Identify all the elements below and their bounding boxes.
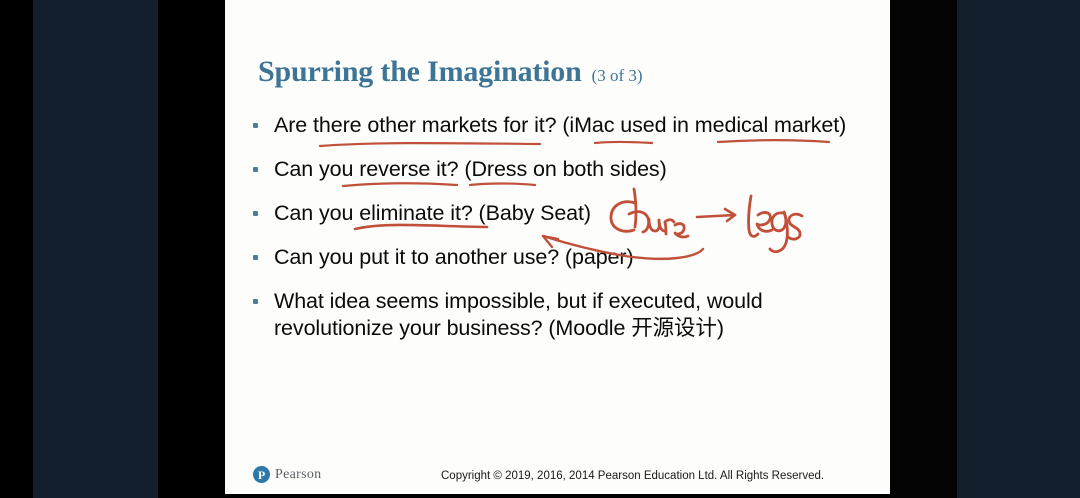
page-title-suffix: (3 of 3) [592, 66, 643, 86]
bullet-marker-icon [253, 123, 258, 128]
bullet-text: Can you reverse it? (Dress on both sides… [274, 156, 667, 183]
list-item: Can you put it to another use? (paper) [253, 244, 878, 271]
bullet-marker-icon [253, 167, 258, 172]
bullet-text: Can you put it to another use? (paper) [274, 244, 634, 271]
pearson-logo: P Pearson [253, 466, 321, 483]
right-letterbox-panel [957, 0, 1080, 498]
list-item: Are there other markets for it? (iMac us… [253, 112, 878, 139]
page-title: Spurring the Imagination [258, 55, 582, 89]
left-black-band [158, 0, 225, 498]
bullet-text: Can you eliminate it? (Baby Seat) [274, 200, 591, 227]
bullet-marker-icon [253, 255, 258, 260]
bullet-text: What idea seems impossible, but if execu… [274, 288, 878, 342]
bullet-text: Are there other markets for it? (iMac us… [274, 112, 846, 139]
bullet-list: Are there other markets for it? (iMac us… [253, 112, 878, 359]
right-black-band [890, 0, 957, 498]
pearson-logo-text: Pearson [275, 467, 321, 483]
list-item: What idea seems impossible, but if execu… [253, 288, 878, 342]
list-item: Can you eliminate it? (Baby Seat) [253, 200, 878, 227]
list-item: Can you reverse it? (Dress on both sides… [253, 156, 878, 183]
copyright-text: Copyright © 2019, 2016, 2014 Pearson Edu… [441, 470, 824, 482]
slide-footer: P Pearson Copyright © 2019, 2016, 2014 P… [225, 462, 890, 494]
slide-title-row: Spurring the Imagination (3 of 3) [258, 55, 643, 89]
left-letterbox-panel [33, 0, 158, 498]
screen-root: Spurring the Imagination (3 of 3) Are th… [0, 0, 1080, 498]
presentation-slide: Spurring the Imagination (3 of 3) Are th… [225, 0, 890, 494]
bullet-marker-icon [253, 211, 258, 216]
bullet-marker-icon [253, 299, 258, 304]
pearson-p-icon: P [253, 466, 270, 483]
